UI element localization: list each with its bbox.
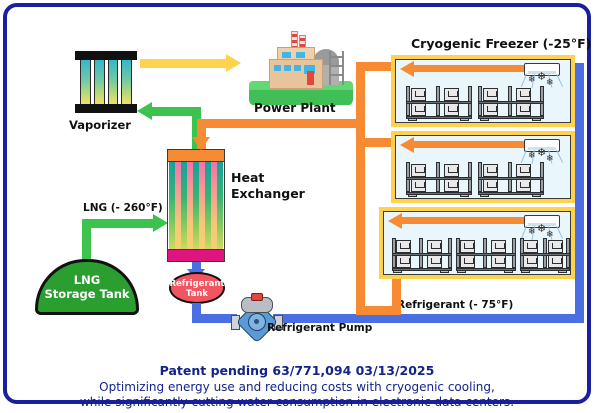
diagram-frame: Vaporizer (3, 3, 591, 404)
freezer-chamber-1: ❄ ❄ ❄ (391, 55, 575, 127)
heat-exchanger-unit (167, 149, 225, 262)
cool-air-stream (556, 226, 563, 239)
lng-flow-label: LNG (- 260°F) (83, 203, 163, 214)
vaporizer-label: Vaporizer (69, 119, 131, 131)
heat-exchanger-label-line2: Exchanger (231, 186, 305, 201)
lng-inlet-arrow (153, 214, 168, 232)
warm-return-riser (356, 62, 365, 315)
natural-gas-arrow (226, 54, 241, 72)
cryogenic-freezer-title: Cryogenic Freezer (-25°F) (411, 37, 591, 50)
heat-exchanger-inlet-arrow (192, 137, 210, 150)
power-pylon-icon (327, 51, 347, 85)
cool-air-stream (556, 74, 563, 87)
heat-exchanger-label-line1: Heat (231, 170, 264, 185)
refrigerant-flow-label: Refrigerant (- 75°F) (397, 300, 513, 311)
refrigerant-pump-label: Refrigerant Pump (267, 323, 372, 334)
warm-return-header-3 (356, 306, 395, 315)
heat-exchanger-label: Heat Exchanger (231, 170, 305, 201)
snowflake-icon: ❄ (546, 155, 554, 163)
pump-cap (251, 293, 263, 301)
pump-shaft (254, 319, 259, 324)
snowflake-icon: ❄ (528, 228, 536, 236)
snowflake-icon: ❄ (528, 152, 536, 160)
warm-return-header-1 (356, 62, 395, 71)
chamber-interior: ❄ ❄ ❄ (395, 59, 571, 123)
snowflake-icon: ❄ (537, 149, 546, 157)
chamber-interior: ❄ ❄ ❄ (383, 211, 571, 275)
lng-storage-tank-label: LNG Storage Tank (35, 273, 139, 302)
chamber3-return-duct (402, 217, 544, 224)
chamber-interior: ❄ ❄ ❄ (395, 135, 571, 199)
snowflake-icon: ❄ (528, 76, 536, 84)
ng-pipe-horizontal (152, 107, 201, 116)
chamber1-return-arrow (400, 61, 414, 77)
power-plant-icon (247, 29, 355, 107)
caption-line-3: while significantly cutting water consum… (7, 395, 587, 410)
diagram-canvas: Vaporizer (0, 0, 600, 413)
refrigerant-tank-label-line1: Refrigerant (169, 279, 224, 289)
vaporizer-tube (121, 60, 132, 104)
server-rack (406, 86, 472, 120)
snowflake-icon: ❄ (537, 73, 546, 81)
cold-supply-riser (575, 63, 584, 323)
snowflake-icon: ❄ (537, 225, 546, 233)
server-rack (478, 86, 544, 120)
server-rack (478, 162, 544, 196)
lng-tank-label-line1: LNG (74, 273, 100, 287)
vaporizer-inlet-arrow (137, 102, 152, 120)
vaporizer-tube (94, 60, 105, 104)
heat-exchanger-hot-header (168, 150, 224, 162)
vaporizer-tubes (80, 60, 132, 104)
vaporizer-unit (75, 51, 137, 113)
freezer-chamber-2: ❄ ❄ ❄ (391, 131, 575, 203)
chamber3-return-arrow (388, 213, 402, 229)
freezer-chamber-3: ❄ ❄ ❄ (379, 207, 575, 279)
caption-line-2: Optimizing energy use and reducing costs… (7, 380, 587, 395)
server-rack (520, 238, 570, 272)
caption-block: Patent pending 63/771,094 03/13/2025 Opt… (7, 363, 587, 410)
power-plant-label: Power Plant (254, 102, 336, 115)
chamber2-return-arrow (400, 137, 414, 153)
server-rack (392, 238, 452, 272)
heat-exchanger-tubes (169, 162, 223, 249)
warm-return-header-2 (356, 138, 395, 147)
lng-pipe-horizontal (82, 219, 153, 228)
heat-exchanger-cold-header (168, 249, 224, 261)
cool-air-stream (556, 150, 563, 163)
server-rack (456, 238, 516, 272)
server-rack (406, 162, 472, 196)
snowflake-icon: ❄ (546, 79, 554, 87)
refrigerant-tank-label: Refrigerant Tank (169, 279, 225, 299)
patent-line: Patent pending 63/771,094 03/13/2025 (7, 363, 587, 380)
power-plant-main-block (269, 59, 323, 89)
refrigerant-tank-label-line2: Tank (186, 289, 208, 299)
vaporizer-tube (108, 60, 119, 104)
power-plant-door (307, 71, 314, 85)
vaporizer-tube (80, 60, 91, 104)
vaporizer-bottom-plate (75, 104, 137, 113)
lng-tank-label-line2: Storage Tank (44, 287, 129, 301)
natural-gas-pipe (140, 59, 226, 68)
vaporizer-top-plate (75, 51, 137, 60)
warm-return-top-run (197, 119, 365, 128)
